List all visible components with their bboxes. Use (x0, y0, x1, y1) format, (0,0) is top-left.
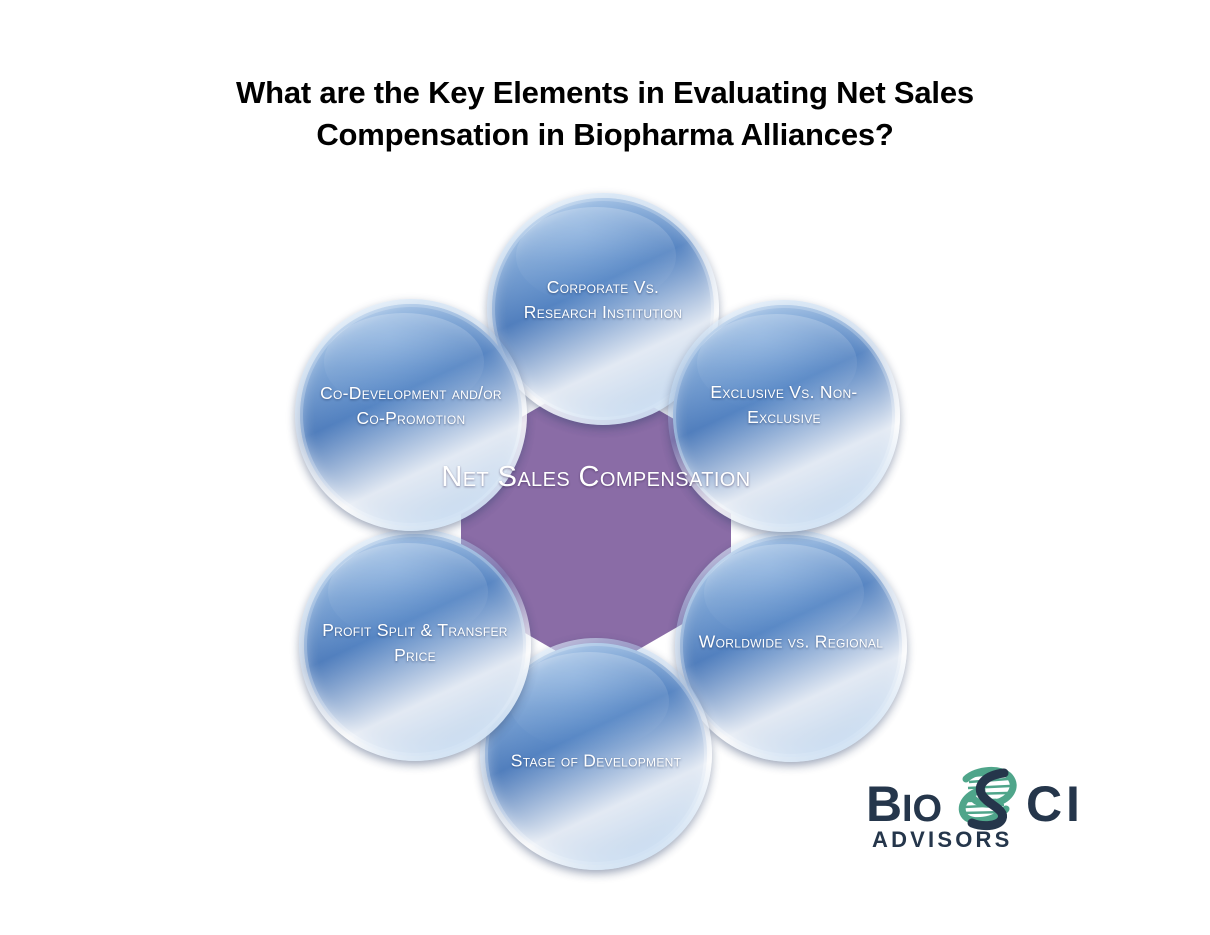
diagram-node-exclusive-vs-non-exclusive[interactable]: Exclusive Vs. Non-Exclusive (673, 305, 895, 527)
diagram-node-label: Corporate Vs. Research Institution (510, 275, 696, 325)
biosci-logo-svg: B IO (866, 765, 1138, 855)
biosci-advisors-logo: B IO (866, 765, 1138, 855)
logo-tagline: ADVISORS (872, 827, 1013, 852)
hub-and-spoke-diagram: Net Sales Compensation Corporate Vs. Res… (290, 190, 920, 840)
logo-word-io: IO (902, 788, 942, 830)
logo-word-bio: B (866, 776, 901, 832)
diagram-node-label: Worldwide vs. Regional (698, 629, 884, 654)
logo-word-i: I (1066, 776, 1080, 832)
diagram-node-label: Stage of Development (503, 748, 689, 773)
diagram-node-label: Exclusive Vs. Non-Exclusive (691, 380, 877, 430)
logo-word-c: C (1026, 776, 1061, 832)
diagram-node-label: Profit Split & Transfer Price (322, 618, 508, 668)
diagram-node-worldwide-vs-regional[interactable]: Worldwide vs. Regional (680, 535, 902, 757)
dna-helix-icon (962, 770, 1013, 825)
page-title: What are the Key Elements in Evaluating … (0, 72, 1210, 156)
diagram-node-label: Co-Development and/or Co-Promotion (318, 381, 504, 431)
diagram-node-co-development-co-promotion[interactable]: Co-Development and/or Co-Promotion (300, 304, 522, 526)
diagram-node-profit-split-transfer-price[interactable]: Profit Split & Transfer Price (304, 534, 526, 756)
